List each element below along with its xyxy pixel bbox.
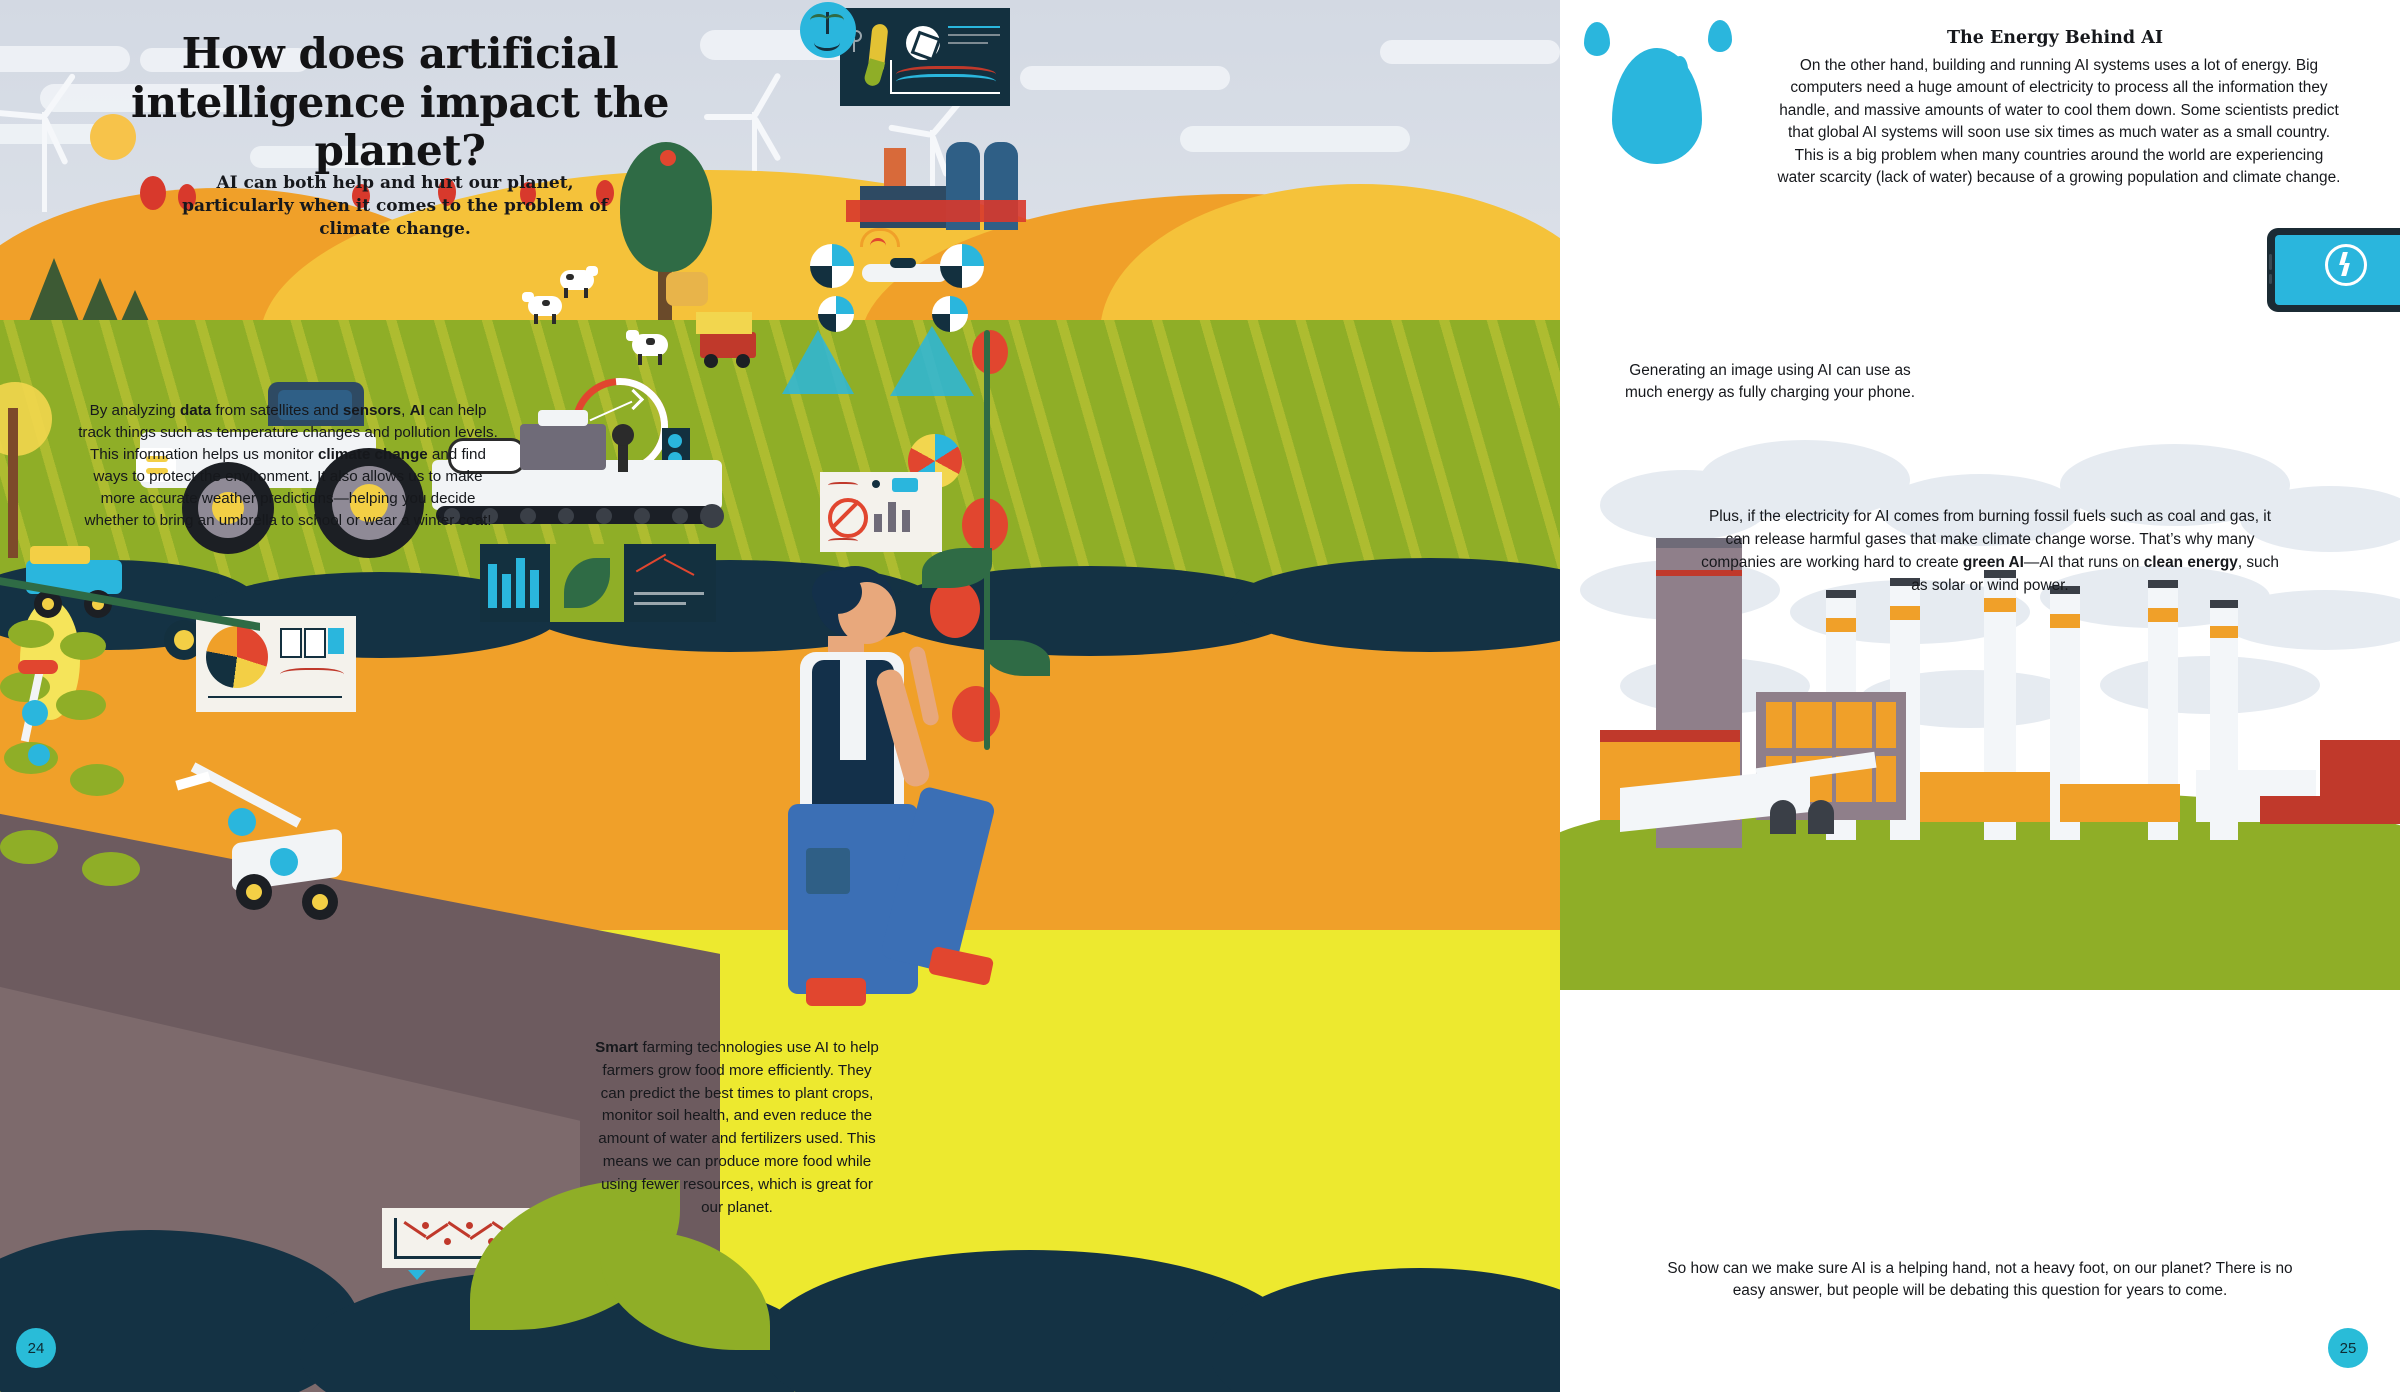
page-subtitle: AI can both help and hurt our planet, pa…	[180, 172, 610, 241]
bar-chart-panel	[480, 544, 550, 622]
crop-plant	[0, 830, 58, 864]
page-number-right: 25	[2328, 1328, 2368, 1368]
right-page: The Energy Behind AI On the other hand, …	[1560, 0, 2400, 1392]
water-droplet	[1584, 22, 1610, 56]
paragraph-data-satellites: By analyzing data from satellites and se…	[78, 400, 498, 532]
leaf-panel	[550, 544, 624, 622]
water-droplet	[1612, 48, 1702, 164]
section-heading: The Energy Behind AI	[1775, 28, 2335, 48]
phone-caption: Generating an image using AI can use as …	[1620, 360, 1920, 405]
water-droplet	[1672, 56, 1688, 78]
tomato	[952, 686, 1000, 742]
crop-plant	[8, 620, 54, 648]
page-title: How does artificial intelligence impact …	[90, 30, 710, 176]
vine-stem	[984, 330, 990, 750]
conifer	[28, 258, 80, 324]
tomato	[972, 330, 1008, 374]
water-droplet	[1708, 20, 1732, 52]
cloud	[1180, 126, 1410, 152]
pie-chart-card	[196, 616, 356, 712]
cart-wheel	[704, 354, 718, 368]
chart-card	[820, 472, 942, 552]
cart-wheel	[736, 354, 750, 368]
bush	[140, 176, 166, 210]
crop-plant	[70, 764, 124, 796]
paragraph-smart-farming: Smart farming technologies use AI to hel…	[592, 1037, 882, 1219]
charging-bolt-icon	[2325, 244, 2367, 286]
line-chart-panel	[624, 544, 716, 622]
book-spread: How does artificial intelligence impact …	[0, 0, 2400, 1392]
crop-plant	[56, 690, 106, 720]
crop-data-panel	[840, 8, 1010, 106]
smartphone	[2267, 228, 2400, 312]
conifer	[80, 278, 120, 326]
factory-base	[846, 200, 1026, 222]
page-number-left: 24	[16, 1328, 56, 1368]
hay-load	[696, 312, 752, 334]
seedling-icon	[800, 2, 856, 58]
tomato	[930, 580, 980, 638]
left-page: How does artificial intelligence impact …	[0, 0, 1560, 1392]
closing-paragraph: So how can we make sure AI is a helping …	[1660, 1258, 2300, 1303]
cloud	[1020, 66, 1230, 90]
irrigation-spray	[782, 330, 854, 394]
crop-plant	[82, 852, 140, 886]
cloud	[1380, 40, 1560, 64]
hay-bale	[666, 272, 708, 306]
crop-plant	[60, 632, 106, 660]
bare-tree	[8, 408, 18, 558]
irrigation-spray	[890, 326, 974, 396]
paragraph-fossil-fuels: Plus, if the electricity for AI comes fr…	[1700, 505, 2280, 597]
paragraph-energy: On the other hand, building and running …	[1775, 55, 2343, 190]
